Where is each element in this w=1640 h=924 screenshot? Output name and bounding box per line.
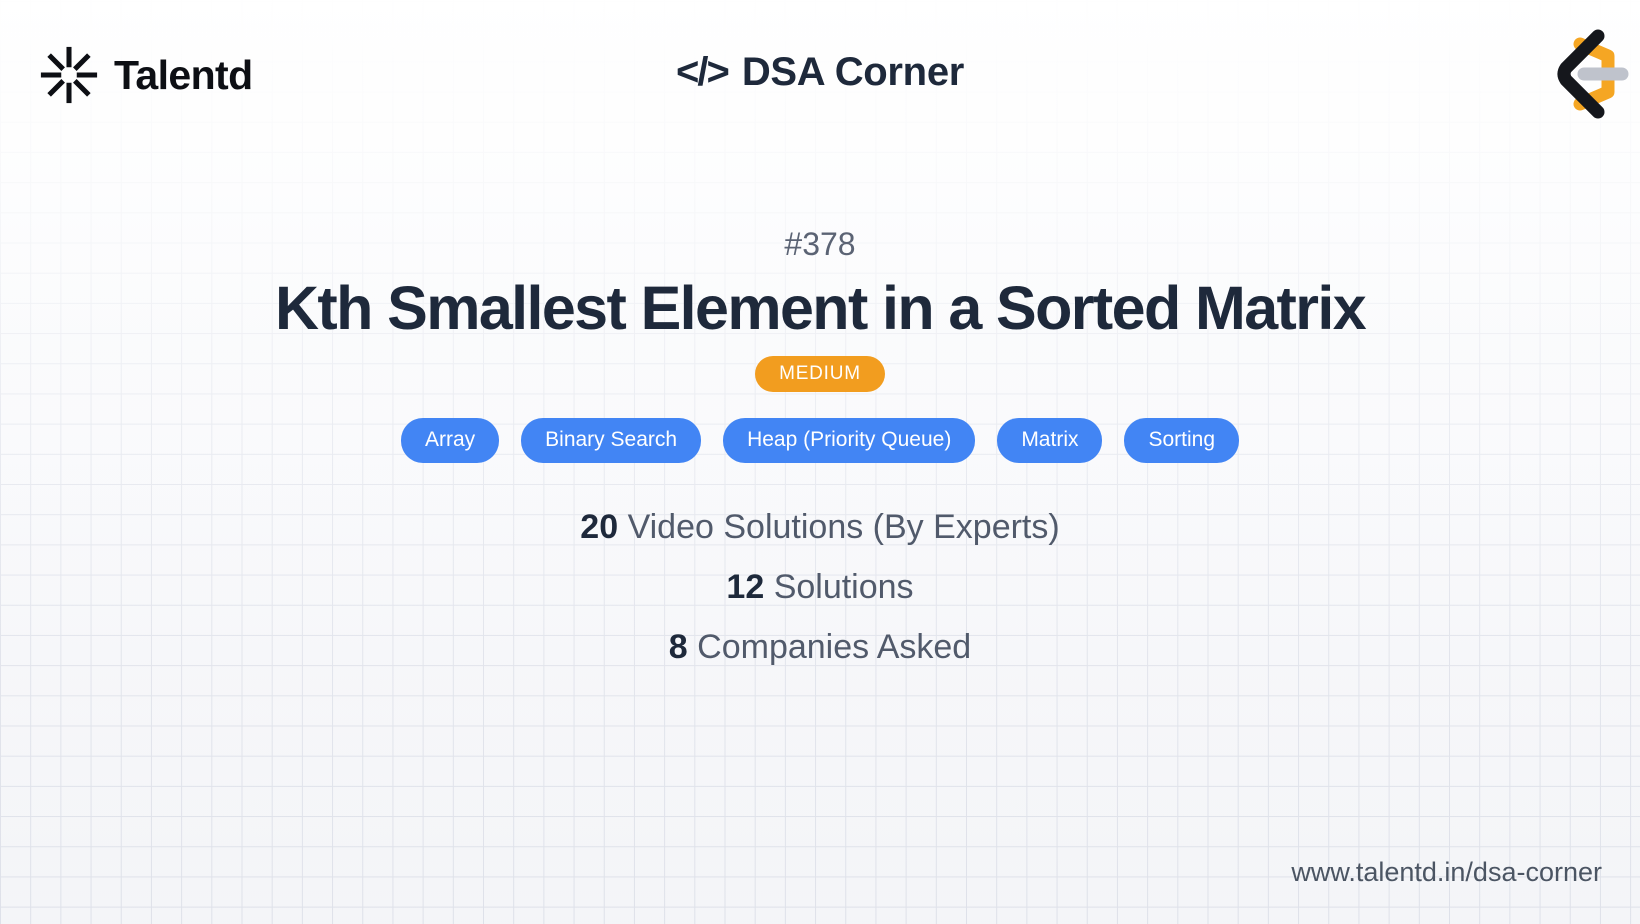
problem-title: Kth Smallest Element in a Sorted Matrix [275, 276, 1365, 342]
stat-video-solutions: 20 Video Solutions (By Experts) [580, 507, 1059, 547]
code-brackets-icon: </> [676, 50, 728, 95]
stat-video-solutions-label: Video Solutions (By Experts) [628, 508, 1060, 546]
tag-pill-array[interactable]: Array [401, 418, 499, 463]
page-title: </> DSA Corner [0, 50, 1640, 95]
footer-url[interactable]: www.talentd.in/dsa-corner [1291, 859, 1602, 886]
stat-companies: 8 Companies Asked [669, 627, 971, 667]
problem-card: #378 Kth Smallest Element in a Sorted Ma… [0, 228, 1640, 667]
tag-pill-sorting[interactable]: Sorting [1124, 418, 1239, 463]
tag-list: Array Binary Search Heap (Priority Queue… [401, 418, 1239, 463]
tag-pill-binary-search[interactable]: Binary Search [521, 418, 701, 463]
stat-video-solutions-count: 20 [580, 508, 618, 546]
problem-number: #378 [784, 228, 855, 260]
header: Talentd </> DSA Corner [0, 0, 1640, 150]
poster-canvas: Talentd </> DSA Corner #378 [0, 0, 1640, 924]
page-title-text: DSA Corner [742, 50, 964, 95]
tag-pill-matrix[interactable]: Matrix [997, 418, 1102, 463]
stat-solutions-label: Solutions [774, 568, 914, 606]
tag-pill-heap[interactable]: Heap (Priority Queue) [723, 418, 975, 463]
stats-list: 20 Video Solutions (By Experts) 12 Solut… [580, 507, 1059, 667]
difficulty-badge: MEDIUM [755, 356, 885, 392]
stat-companies-label: Companies Asked [697, 628, 971, 666]
stat-solutions-count: 12 [726, 568, 764, 606]
stat-companies-count: 8 [669, 628, 688, 666]
stat-solutions: 12 Solutions [726, 567, 913, 607]
